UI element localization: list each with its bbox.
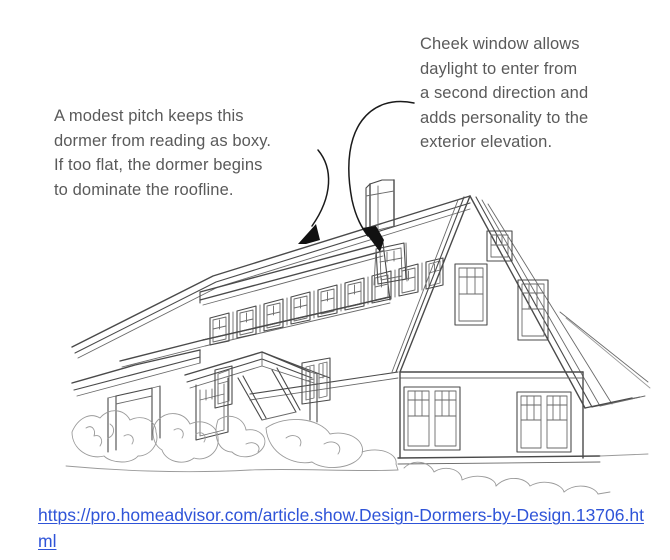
shrubs — [66, 411, 648, 494]
cheek-window — [374, 243, 407, 285]
shed-dormer — [200, 243, 443, 346]
second-floor-window-right — [518, 280, 548, 340]
leader-right — [349, 102, 414, 252]
porch-roof — [72, 350, 330, 396]
main-roof — [72, 196, 650, 408]
annotation-cheek-window: Cheek window allows daylight to enter fr… — [420, 32, 635, 155]
gable-end — [392, 196, 600, 464]
porch-structure — [108, 366, 317, 452]
source-url-link[interactable]: https://pro.homeadvisor.com/article.show… — [38, 502, 648, 554]
dormer-window-band — [210, 258, 443, 345]
left-wall-windows — [302, 358, 330, 404]
house-body — [66, 180, 650, 494]
annotation-dormer-pitch: A modest pitch keeps this dormer from re… — [54, 104, 324, 202]
attic-window — [487, 231, 512, 261]
second-floor-window-left — [455, 264, 487, 325]
first-floor-window-group-right — [517, 392, 571, 452]
chimney — [366, 180, 394, 233]
first-floor-window-group-left — [404, 387, 460, 450]
page-root: .ln { fill:none; stroke:#4a4a4a; stroke-… — [0, 0, 670, 560]
front-wall — [120, 297, 398, 400]
